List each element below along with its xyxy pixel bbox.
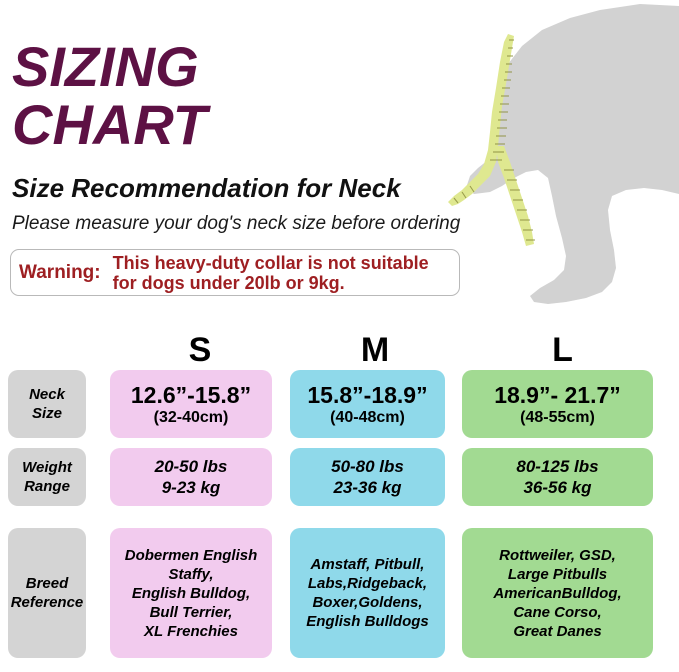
title-line-1: SIZING: [12, 38, 482, 96]
row-label-weight-range-line-2: Range: [24, 477, 70, 496]
row-label-breed-reference-line-2: Reference: [11, 593, 84, 612]
dog-body-shape: [466, 4, 679, 304]
size-header-medium: M: [300, 331, 450, 370]
sizing-chart-page: SIZING CHART Size Recommendation for Nec…: [0, 0, 679, 672]
breed-medium-line-2: Labs,Ridgeback,: [302, 574, 433, 593]
weight-medium-kg: 23-36 kg: [333, 477, 401, 498]
warning-message-line-1: This heavy-duty collar is not suitable: [113, 253, 429, 273]
breed-medium-line-1: Amstaff, Pitbull,: [305, 555, 431, 574]
row-label-weight-range: Weight Range: [8, 448, 86, 506]
page-title: SIZING CHART: [12, 38, 482, 154]
breed-large-line-1: Rottweiler, GSD,: [493, 546, 622, 565]
neck-size-small-inches: 12.6”-15.8”: [131, 382, 251, 408]
neck-size-large-inches: 18.9”- 21.7”: [494, 382, 621, 408]
cell-breed-reference-large: Rottweiler, GSD, Large Pitbulls American…: [462, 528, 653, 658]
row-label-breed-reference-line-1: Breed: [26, 574, 69, 593]
subtitle: Size Recommendation for Neck: [12, 173, 401, 204]
weight-large-kg: 36-56 kg: [523, 477, 591, 498]
breed-large-line-3: AmericanBulldog,: [487, 584, 627, 603]
cell-breed-reference-medium: Amstaff, Pitbull, Labs,Ridgeback, Boxer,…: [290, 528, 445, 658]
warning-message: This heavy-duty collar is not suitable f…: [113, 253, 429, 293]
breed-medium-line-3: Boxer,Goldens,: [306, 593, 428, 612]
warning-message-line-2: for dogs under 20lb or 9kg.: [113, 273, 429, 293]
cell-weight-range-small: 20-50 lbs 9-23 kg: [110, 448, 272, 506]
cell-neck-size-small: 12.6”-15.8” (32-40cm): [110, 370, 272, 438]
cell-neck-size-medium: 15.8”-18.9” (40-48cm): [290, 370, 445, 438]
cell-weight-range-medium: 50-80 lbs 23-36 kg: [290, 448, 445, 506]
breed-small-line-5: XL Frenchies: [138, 622, 244, 641]
breed-small-line-1: Dobermen English: [119, 546, 264, 565]
row-label-neck-size: Neck Size: [8, 370, 86, 438]
row-label-weight-range-line-1: Weight: [22, 458, 72, 477]
size-header-small: S: [130, 331, 270, 370]
cell-weight-range-large: 80-125 lbs 36-56 kg: [462, 448, 653, 506]
breed-small-line-4: Bull Terrier,: [144, 603, 239, 622]
breed-small-line-2: Staffy,: [162, 565, 219, 584]
row-label-breed-reference: Breed Reference: [8, 528, 86, 658]
weight-medium-lbs: 50-80 lbs: [331, 456, 404, 477]
neck-size-small-cm: (32-40cm): [154, 408, 229, 427]
row-label-neck-size-line-2: Size: [32, 404, 62, 423]
neck-size-medium-inches: 15.8”-18.9”: [307, 382, 427, 408]
instruction-text: Please measure your dog's neck size befo…: [12, 213, 460, 235]
breed-large-line-5: Great Danes: [507, 622, 607, 641]
row-label-neck-size-line-1: Neck: [29, 385, 65, 404]
breed-medium-line-4: English Bulldogs: [300, 612, 435, 631]
neck-size-large-cm: (48-55cm): [520, 408, 595, 427]
cell-breed-reference-small: Dobermen English Staffy, English Bulldog…: [110, 528, 272, 658]
breed-small-line-3: English Bulldog,: [126, 584, 256, 603]
cell-neck-size-large: 18.9”- 21.7” (48-55cm): [462, 370, 653, 438]
breed-large-line-2: Large Pitbulls: [502, 565, 613, 584]
size-header-large: L: [470, 331, 655, 370]
weight-large-lbs: 80-125 lbs: [516, 456, 598, 477]
neck-size-medium-cm: (40-48cm): [330, 408, 405, 427]
breed-large-line-4: Cane Corso,: [507, 603, 607, 622]
weight-small-lbs: 20-50 lbs: [155, 456, 228, 477]
warning-box: Warning: This heavy-duty collar is not s…: [10, 249, 460, 296]
weight-small-kg: 9-23 kg: [162, 477, 221, 498]
warning-label: Warning:: [19, 262, 101, 284]
title-line-2: CHART: [12, 96, 482, 154]
